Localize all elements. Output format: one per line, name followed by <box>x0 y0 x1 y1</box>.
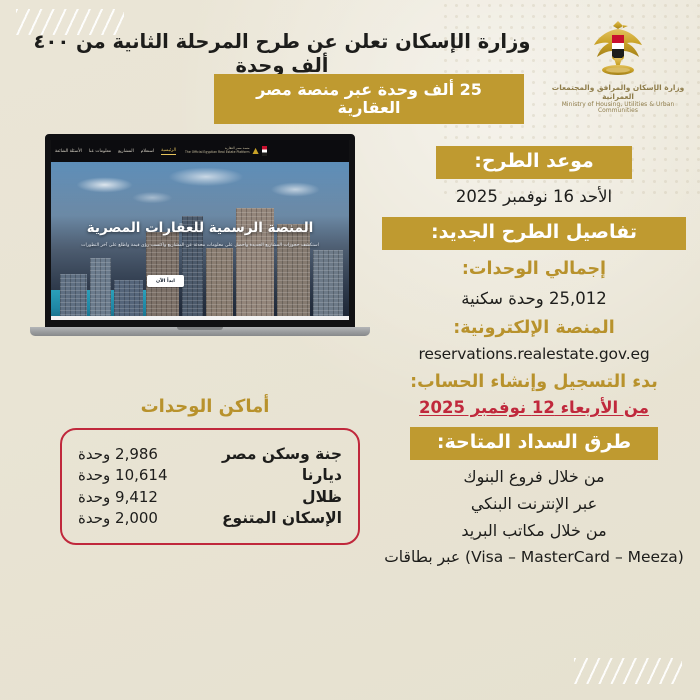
payment-method-post-offices: من خلال مكاتب البريد <box>382 521 686 541</box>
registration-label: بدء التسجيل وإنشاء الحساب: <box>382 372 686 394</box>
nav-item-about-us[interactable]: معلومات عنا <box>89 149 111 154</box>
table-row: ظلال 9,412 وحدة <box>78 488 342 506</box>
total-units-label: إجمالي الوحدات: <box>382 259 686 281</box>
payment-methods-band: طرق السداد المتاحة: <box>410 427 658 460</box>
unit-name: ديارنا <box>302 466 342 484</box>
nav-item-inquiry[interactable]: استعلام <box>141 149 154 154</box>
infographic-poster: وزارة الإسكان تعلن عن طرح المرحلة الثاني… <box>0 0 700 700</box>
hero-description: استكشف حجوزات المشاريع الجديدة واحصل على… <box>73 242 327 250</box>
table-row: الإسكان المتنوع 2,000 وحدة <box>78 509 342 527</box>
unit-name: جنة وسكن مصر <box>222 445 342 463</box>
hero-title: المنصة الرسمية للعقارات المصرية <box>51 220 349 236</box>
launch-date-band: موعد الطرح: <box>436 146 632 179</box>
unit-count: 9,412 وحدة <box>78 488 158 506</box>
payment-method-cards: عبر بطاقات (Visa – MasterCard – Meeza) <box>382 548 686 567</box>
corner-stripes-bottom-right <box>574 658 682 684</box>
platform-label: المنصة الإلكترونية: <box>382 318 686 340</box>
new-offering-details-band: تفاصيل الطرح الجديد: <box>382 217 686 250</box>
screen-bottom-strip <box>51 316 349 320</box>
unit-count: 2,000 وحدة <box>78 509 158 527</box>
eagle-of-saladin-icon <box>587 18 649 80</box>
website-logo-text: منصة مصر العقارية The Official Egyptian … <box>185 147 250 155</box>
platform-url[interactable]: reservations.realestate.gov.eg <box>382 345 686 363</box>
laptop-lid: ▲ منصة مصر العقارية The Official Egyptia… <box>45 134 355 327</box>
website-hero: المنصة الرسمية للعقارات المصرية استكشف ح… <box>51 162 349 320</box>
table-row: جنة وسكن مصر 2,986 وحدة <box>78 445 342 463</box>
payment-method-bank-branches: من خلال فروع البنوك <box>382 467 686 487</box>
page-title: وزارة الإسكان تعلن عن طرح المرحلة الثاني… <box>14 30 550 79</box>
eagle-small-icon: ▲ <box>253 147 259 155</box>
unit-name: الإسكان المتنوع <box>222 509 342 527</box>
ministry-name-arabic: وزارة الإسكان والمرافق والمجتمعات العمرا… <box>550 83 686 101</box>
table-row: ديارنا 10,614 وحدة <box>78 466 342 484</box>
laptop-mockup: ▲ منصة مصر العقارية The Official Egyptia… <box>30 134 370 336</box>
units-table: جنة وسكن مصر 2,986 وحدة ديارنا 10,614 وح… <box>60 428 360 545</box>
launch-date-value: الأحد 16 نوفمبر 2025 <box>382 186 686 207</box>
ministry-name-english: Ministry of Housing, Utilities & Urban C… <box>550 102 686 114</box>
header-subtitle-band: 25 ألف وحدة عبر منصة مصر العقارية <box>214 74 524 124</box>
website-navbar: ▲ منصة مصر العقارية The Official Egyptia… <box>51 140 349 162</box>
egypt-flag-icon <box>262 146 267 156</box>
nav-item-home[interactable]: الرئيسية <box>161 148 176 155</box>
nav-item-faq[interactable]: الأسئلة الشائعة <box>55 149 82 154</box>
laptop-screen: ▲ منصة مصر العقارية The Official Egyptia… <box>51 140 349 320</box>
website-logo: ▲ منصة مصر العقارية The Official Egyptia… <box>185 146 267 156</box>
details-column: موعد الطرح: الأحد 16 نوفمبر 2025 تفاصيل … <box>382 146 686 567</box>
laptop-base <box>30 327 370 336</box>
registration-date: من الأربعاء 12 نوفمبر 2025 <box>382 398 686 417</box>
unit-name: ظلال <box>302 488 342 506</box>
ministry-logo: وزارة الإسكان والمرافق والمجتمعات العمرا… <box>550 18 686 114</box>
nav-item-projects[interactable]: المشاريع <box>118 149 134 154</box>
total-units-value: 25,012 وحدة سكنية <box>382 288 686 309</box>
hero-start-button[interactable]: ابدأ الآن <box>147 275 184 287</box>
city-skyline-image <box>51 188 349 320</box>
website-logo-text-en: The Official Egyptian Real Estate Platfo… <box>185 150 250 154</box>
unit-count: 10,614 وحدة <box>78 466 168 484</box>
units-section-heading: أماكن الوحدات <box>40 396 370 417</box>
unit-count: 2,986 وحدة <box>78 445 158 463</box>
payment-method-internet-banking: عبر الإنترنت البنكي <box>382 494 686 514</box>
